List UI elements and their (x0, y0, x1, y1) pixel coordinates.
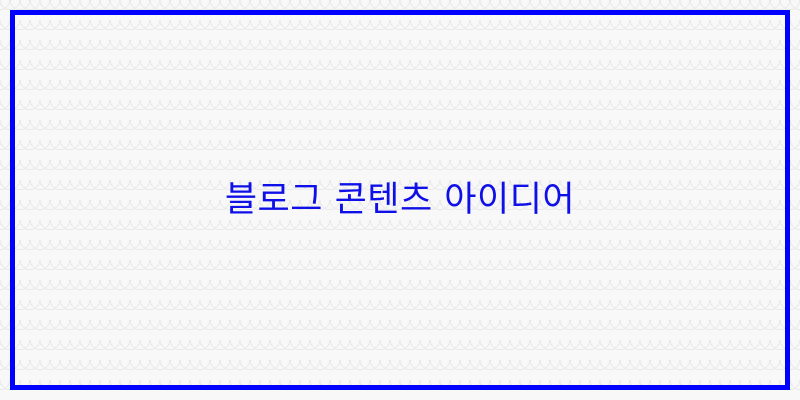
blog-idea-banner: 블로그 콘텐츠 아이디어 (0, 0, 800, 400)
banner-headline: 블로그 콘텐츠 아이디어 (225, 179, 575, 221)
banner-content: 블로그 콘텐츠 아이디어 (0, 0, 800, 400)
